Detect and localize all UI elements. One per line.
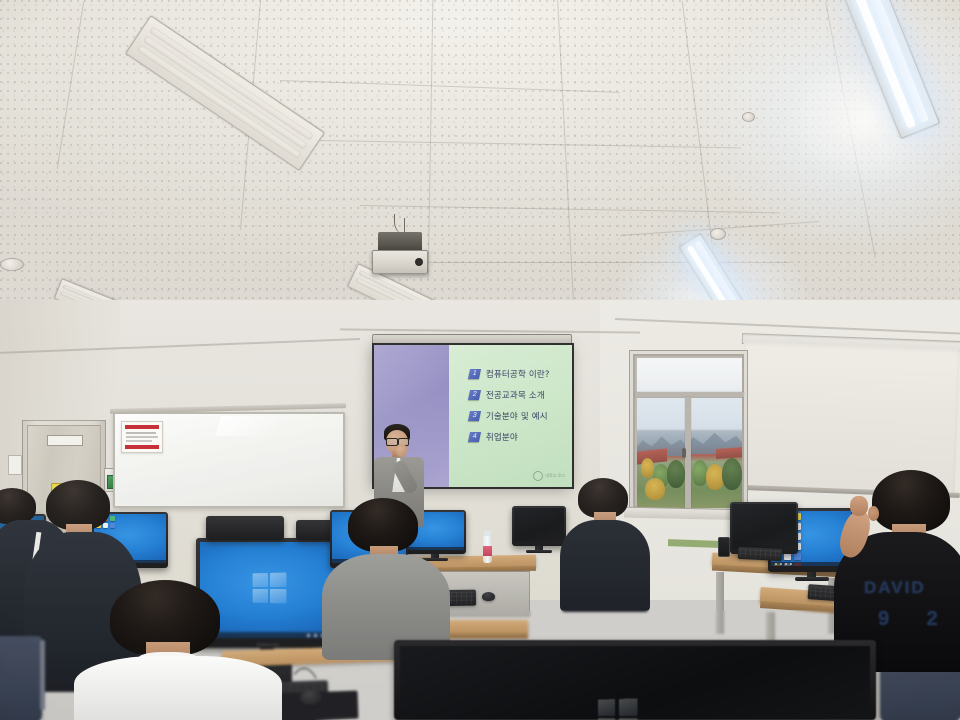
notice-line <box>126 436 158 438</box>
taskbar-item[interactable] <box>785 563 787 565</box>
slide-agenda-item: 3 기술분야 및 예시 <box>469 410 550 422</box>
slide-item-number: 3 <box>468 411 481 421</box>
wall-switch-plate[interactable] <box>8 455 22 475</box>
monitor-base <box>526 550 552 553</box>
projector-lens-icon <box>415 258 423 266</box>
slide-item-text: 취업분야 <box>486 431 518 443</box>
university-logo-text: 대학교 로고 <box>545 473 565 479</box>
notice-title-bar <box>125 425 159 429</box>
student-clothing <box>560 520 650 612</box>
door-sign <box>47 435 83 446</box>
student-gray <box>330 498 440 658</box>
taskbar-item[interactable] <box>780 563 782 565</box>
chair[interactable] <box>0 636 42 720</box>
tree <box>645 478 665 500</box>
classroom-photo: 1 컴퓨터공학 이란? 2 전공교과목 소개 3 기술분야 및 예시 4 <box>0 0 960 720</box>
taskbar-item[interactable] <box>307 634 310 637</box>
mouse-cable <box>288 668 320 696</box>
slide-agenda-item: 2 전공교과목 소개 <box>469 389 550 401</box>
tree <box>667 460 685 488</box>
student-hand <box>850 496 868 516</box>
presenter-glasses-icon <box>386 438 398 446</box>
student-hair <box>46 480 110 530</box>
projector-mount <box>378 232 422 252</box>
monitor-bezel <box>394 640 876 720</box>
university-logo-icon <box>533 471 543 481</box>
tshirt-text-line-2: 9 2 <box>878 608 954 631</box>
bottle-cap <box>484 531 491 536</box>
monitor-back-mid[interactable] <box>512 506 566 552</box>
student-hair <box>348 498 418 552</box>
smoke-detector-icon <box>710 228 726 240</box>
monitor-screen[interactable] <box>514 508 564 542</box>
window-pane-left <box>637 398 687 508</box>
tshirt-text-line-1: DAVID <box>864 578 926 598</box>
taskbar-item[interactable] <box>775 563 777 565</box>
whiteboard-notice <box>121 421 163 453</box>
slide-right-panel: 1 컴퓨터공학 이란? 2 전공교과목 소개 3 기술분야 및 예시 4 <box>449 345 572 487</box>
student-white <box>84 580 274 720</box>
ceiling-speaker-icon <box>0 258 24 271</box>
slide-item-number: 4 <box>468 432 481 442</box>
slide-agenda-list: 1 컴퓨터공학 이란? 2 전공교과목 소개 3 기술분야 및 예시 4 <box>469 368 550 443</box>
ceiling-seam <box>430 262 790 263</box>
chair-frame <box>40 640 45 710</box>
projector <box>372 250 428 274</box>
window-pane-transom <box>637 358 742 392</box>
smoke-detector-icon <box>742 112 755 122</box>
whiteboard <box>113 412 345 508</box>
window-pane-right <box>690 398 742 508</box>
student-clothing <box>74 656 282 720</box>
student-back-mid <box>566 478 640 608</box>
student-hair <box>872 470 950 532</box>
desk-leg <box>716 572 724 634</box>
presenter-hand <box>396 444 407 457</box>
monitor-bezel <box>512 506 566 546</box>
smartphone[interactable] <box>718 537 730 557</box>
window-handle[interactable] <box>682 448 686 458</box>
slide-university-logo: 대학교 로고 <box>533 471 565 481</box>
taskbar-item[interactable] <box>790 563 792 565</box>
tree <box>722 458 742 490</box>
slide-item-text: 기술분야 및 예시 <box>486 410 548 422</box>
slide-agenda-item: 4 취업분야 <box>469 431 550 443</box>
bottle-label <box>483 546 492 556</box>
slide-item-number: 1 <box>468 369 481 379</box>
window[interactable] <box>629 350 748 512</box>
monitor-left-upper[interactable] <box>206 516 284 540</box>
slide-agenda-item: 1 컴퓨터공학 이란? <box>469 368 550 380</box>
notice-line <box>126 432 156 434</box>
mouse-back-row[interactable] <box>482 592 495 601</box>
monitor-screen[interactable] <box>400 646 870 720</box>
taskbar-item[interactable] <box>314 634 317 637</box>
monitor-foreground[interactable] <box>394 640 876 720</box>
water-bottle[interactable] <box>483 535 492 563</box>
monitor-screen[interactable] <box>732 504 796 549</box>
monitor-base <box>795 577 829 581</box>
windows-logo-icon <box>598 699 638 720</box>
notice-line <box>126 440 152 442</box>
slide-item-number: 2 <box>468 390 481 400</box>
notice-footer-bar <box>125 445 159 449</box>
slide-item-text: 컴퓨터공학 이란? <box>486 368 550 380</box>
keyboard-right-back[interactable] <box>738 547 783 561</box>
slide-item-text: 전공교과목 소개 <box>486 389 545 401</box>
red-roof-building <box>716 447 742 459</box>
